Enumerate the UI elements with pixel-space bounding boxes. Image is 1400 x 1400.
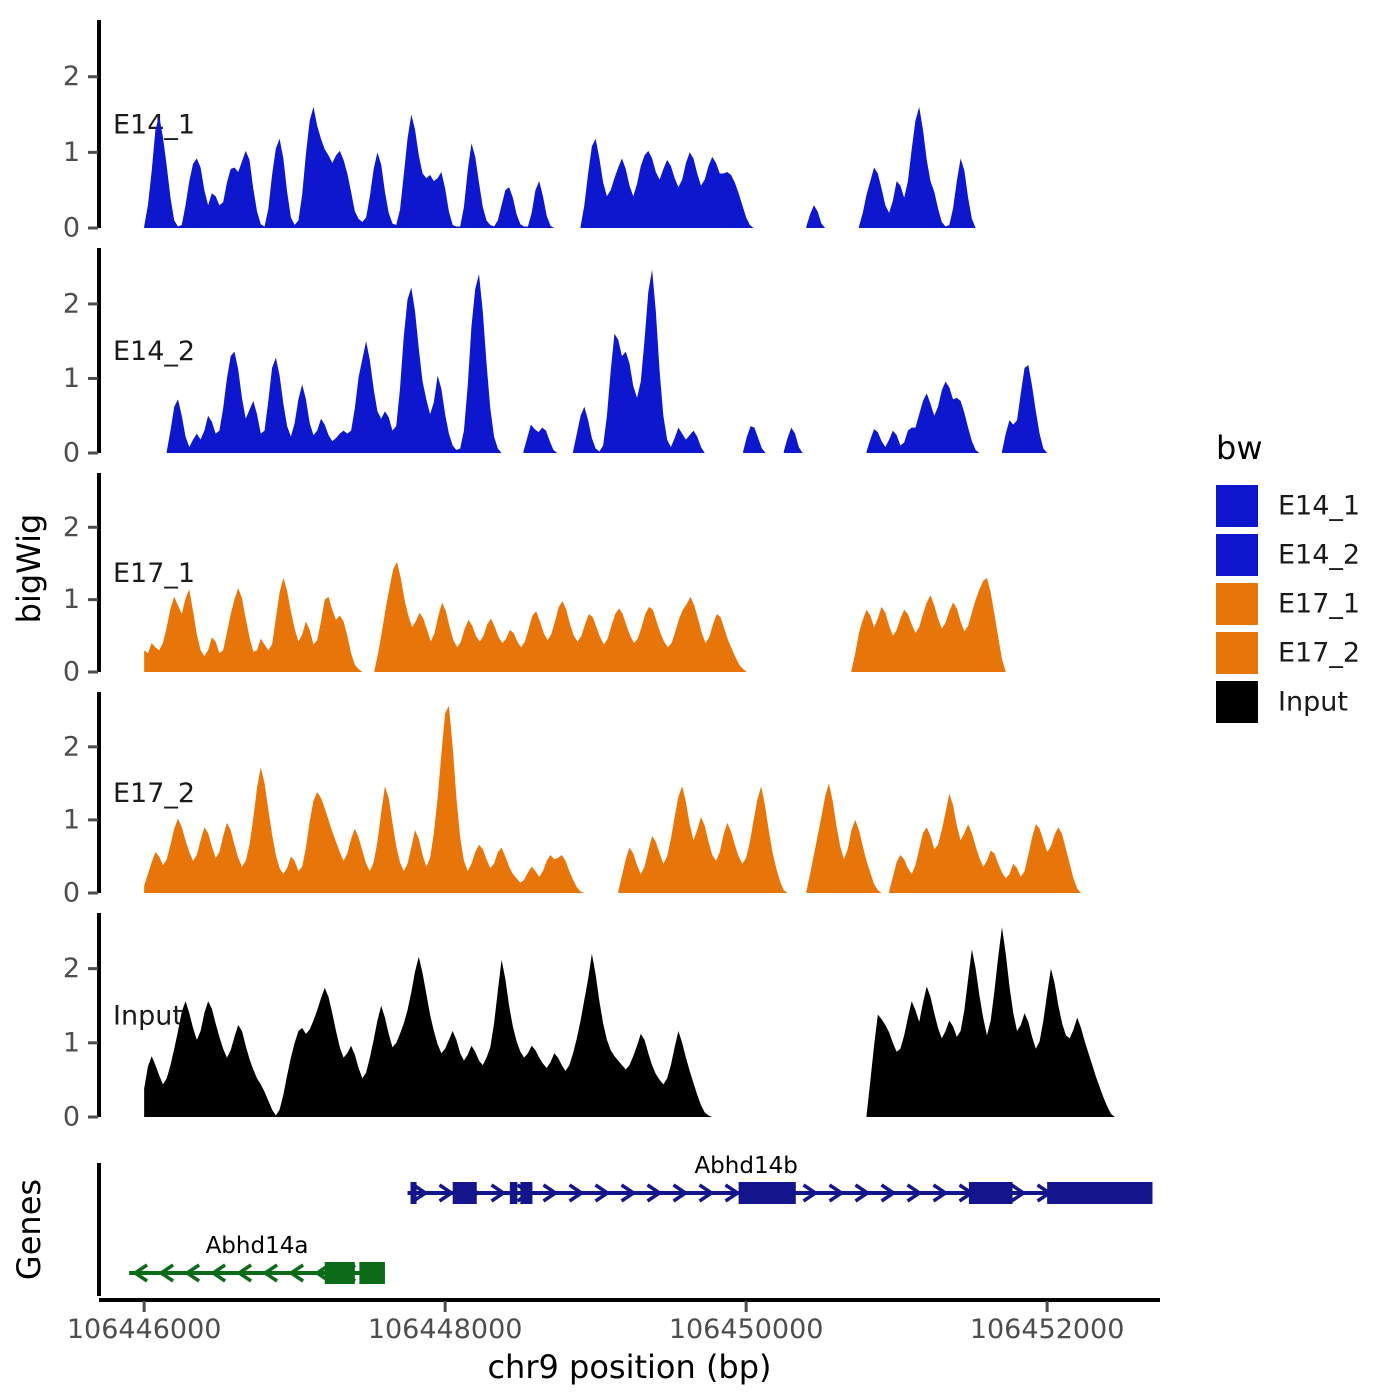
- track-area-E17_1-segment-2: [851, 578, 1005, 672]
- legend-swatch-E14_2[interactable]: [1216, 534, 1258, 576]
- track-area-E17_2-segment-3: [889, 794, 1081, 893]
- y-tick-label-E17_2-2: 2: [63, 731, 80, 762]
- y-tick-label-E14_1-2: 2: [63, 61, 80, 92]
- y-tick-label-E17_1-2: 2: [63, 512, 80, 543]
- y-tick-label-Input-1: 1: [63, 1027, 80, 1058]
- figure-canvas: 012E14_1012E14_2012E17_1012E17_2012Input…: [0, 0, 1400, 1400]
- y-axis-title: bigWig: [10, 514, 48, 624]
- track-area-Input-segment-0: [144, 954, 712, 1117]
- x-tick-label-106450000: 106450000: [669, 1314, 824, 1345]
- track-area-E14_2-segment-2: [573, 270, 705, 453]
- legend-label-E14_2[interactable]: E14_2: [1278, 540, 1360, 571]
- track-area-E14_2-segment-1: [523, 425, 557, 453]
- legend-swatch-E17_2[interactable]: [1216, 632, 1258, 674]
- track-area-E17_2-segment-1: [618, 786, 787, 893]
- legend-label-E17_2[interactable]: E17_2: [1278, 638, 1360, 669]
- bigwig-genome-browser-figure: 012E14_1012E14_2012E17_1012E17_2012Input…: [0, 0, 1400, 1400]
- x-axis-title: chr9 position (bp): [487, 1348, 771, 1386]
- legend-title: bw: [1216, 429, 1262, 467]
- track-label-E17_1: E17_1: [113, 558, 195, 589]
- y-tick-label-E14_2-1: 1: [63, 363, 80, 394]
- x-tick-label-106446000: 106446000: [67, 1314, 222, 1345]
- gene-exon-Abhd14b-1: [453, 1182, 477, 1204]
- gene-exon-Abhd14a-1: [359, 1262, 385, 1284]
- track-label-E14_1: E14_1: [113, 109, 195, 140]
- y-tick-label-E14_1-1: 1: [63, 137, 80, 168]
- y-tick-label-E14_2-0: 0: [63, 438, 80, 469]
- track-area-E14_2-segment-4: [784, 428, 803, 453]
- legend-label-Input[interactable]: Input: [1278, 687, 1348, 718]
- x-tick-label-106452000: 106452000: [970, 1314, 1125, 1345]
- track-area-E17_1-segment-1: [374, 562, 746, 672]
- track-area-E17_2-segment-2: [806, 783, 881, 893]
- y-tick-label-Input-2: 2: [63, 953, 80, 984]
- track-area-E14_1-segment-0: [144, 107, 554, 228]
- y-tick-label-E17_2-1: 1: [63, 804, 80, 835]
- y-tick-label-E14_1-0: 0: [63, 213, 80, 244]
- y-tick-label-Input-0: 0: [63, 1102, 80, 1133]
- legend-label-E17_1[interactable]: E17_1: [1278, 589, 1360, 620]
- y-tick-label-E14_2-2: 2: [63, 288, 80, 319]
- gene-label-Abhd14a: Abhd14a: [206, 1233, 309, 1259]
- gene-exon-Abhd14b-6: [1047, 1182, 1152, 1204]
- y-tick-label-E17_2-0: 0: [63, 878, 80, 909]
- track-area-E14_1-segment-2: [806, 205, 825, 228]
- gene-exon-Abhd14b-3: [520, 1182, 532, 1204]
- y-tick-label-E17_1-0: 0: [63, 657, 80, 688]
- track-area-E14_2-segment-3: [743, 426, 766, 453]
- track-label-E14_2: E14_2: [113, 336, 195, 367]
- track-area-E17_2-segment-0: [144, 706, 584, 893]
- genes-axis-title: Genes: [10, 1179, 48, 1280]
- track-area-E14_2-segment-6: [1002, 365, 1047, 453]
- gene-label-Abhd14b: Abhd14b: [694, 1153, 797, 1179]
- x-tick-label-106448000: 106448000: [368, 1314, 523, 1345]
- gene-exon-Abhd14b-4: [739, 1182, 796, 1204]
- gene-exon-Abhd14b-2: [510, 1182, 518, 1204]
- track-area-E14_1-segment-1: [581, 139, 754, 228]
- legend-label-E14_1[interactable]: E14_1: [1278, 491, 1360, 522]
- track-area-E14_1-segment-3: [859, 107, 976, 228]
- legend-swatch-Input[interactable]: [1216, 681, 1258, 723]
- track-label-Input: Input: [113, 1000, 183, 1031]
- track-area-E14_2-segment-5: [867, 381, 980, 453]
- legend-swatch-E17_1[interactable]: [1216, 583, 1258, 625]
- gene-exon-Abhd14a-0: [325, 1262, 355, 1284]
- y-tick-label-E17_1-1: 1: [63, 584, 80, 615]
- track-area-E14_2-segment-0: [167, 274, 502, 453]
- legend-swatch-E14_1[interactable]: [1216, 485, 1258, 527]
- gene-exon-Abhd14b-0: [411, 1182, 417, 1204]
- track-label-E17_2: E17_2: [113, 778, 195, 809]
- track-area-Input-segment-1: [867, 927, 1115, 1117]
- track-area-E17_1-segment-0: [144, 578, 362, 672]
- gene-exon-Abhd14b-5: [969, 1182, 1013, 1204]
